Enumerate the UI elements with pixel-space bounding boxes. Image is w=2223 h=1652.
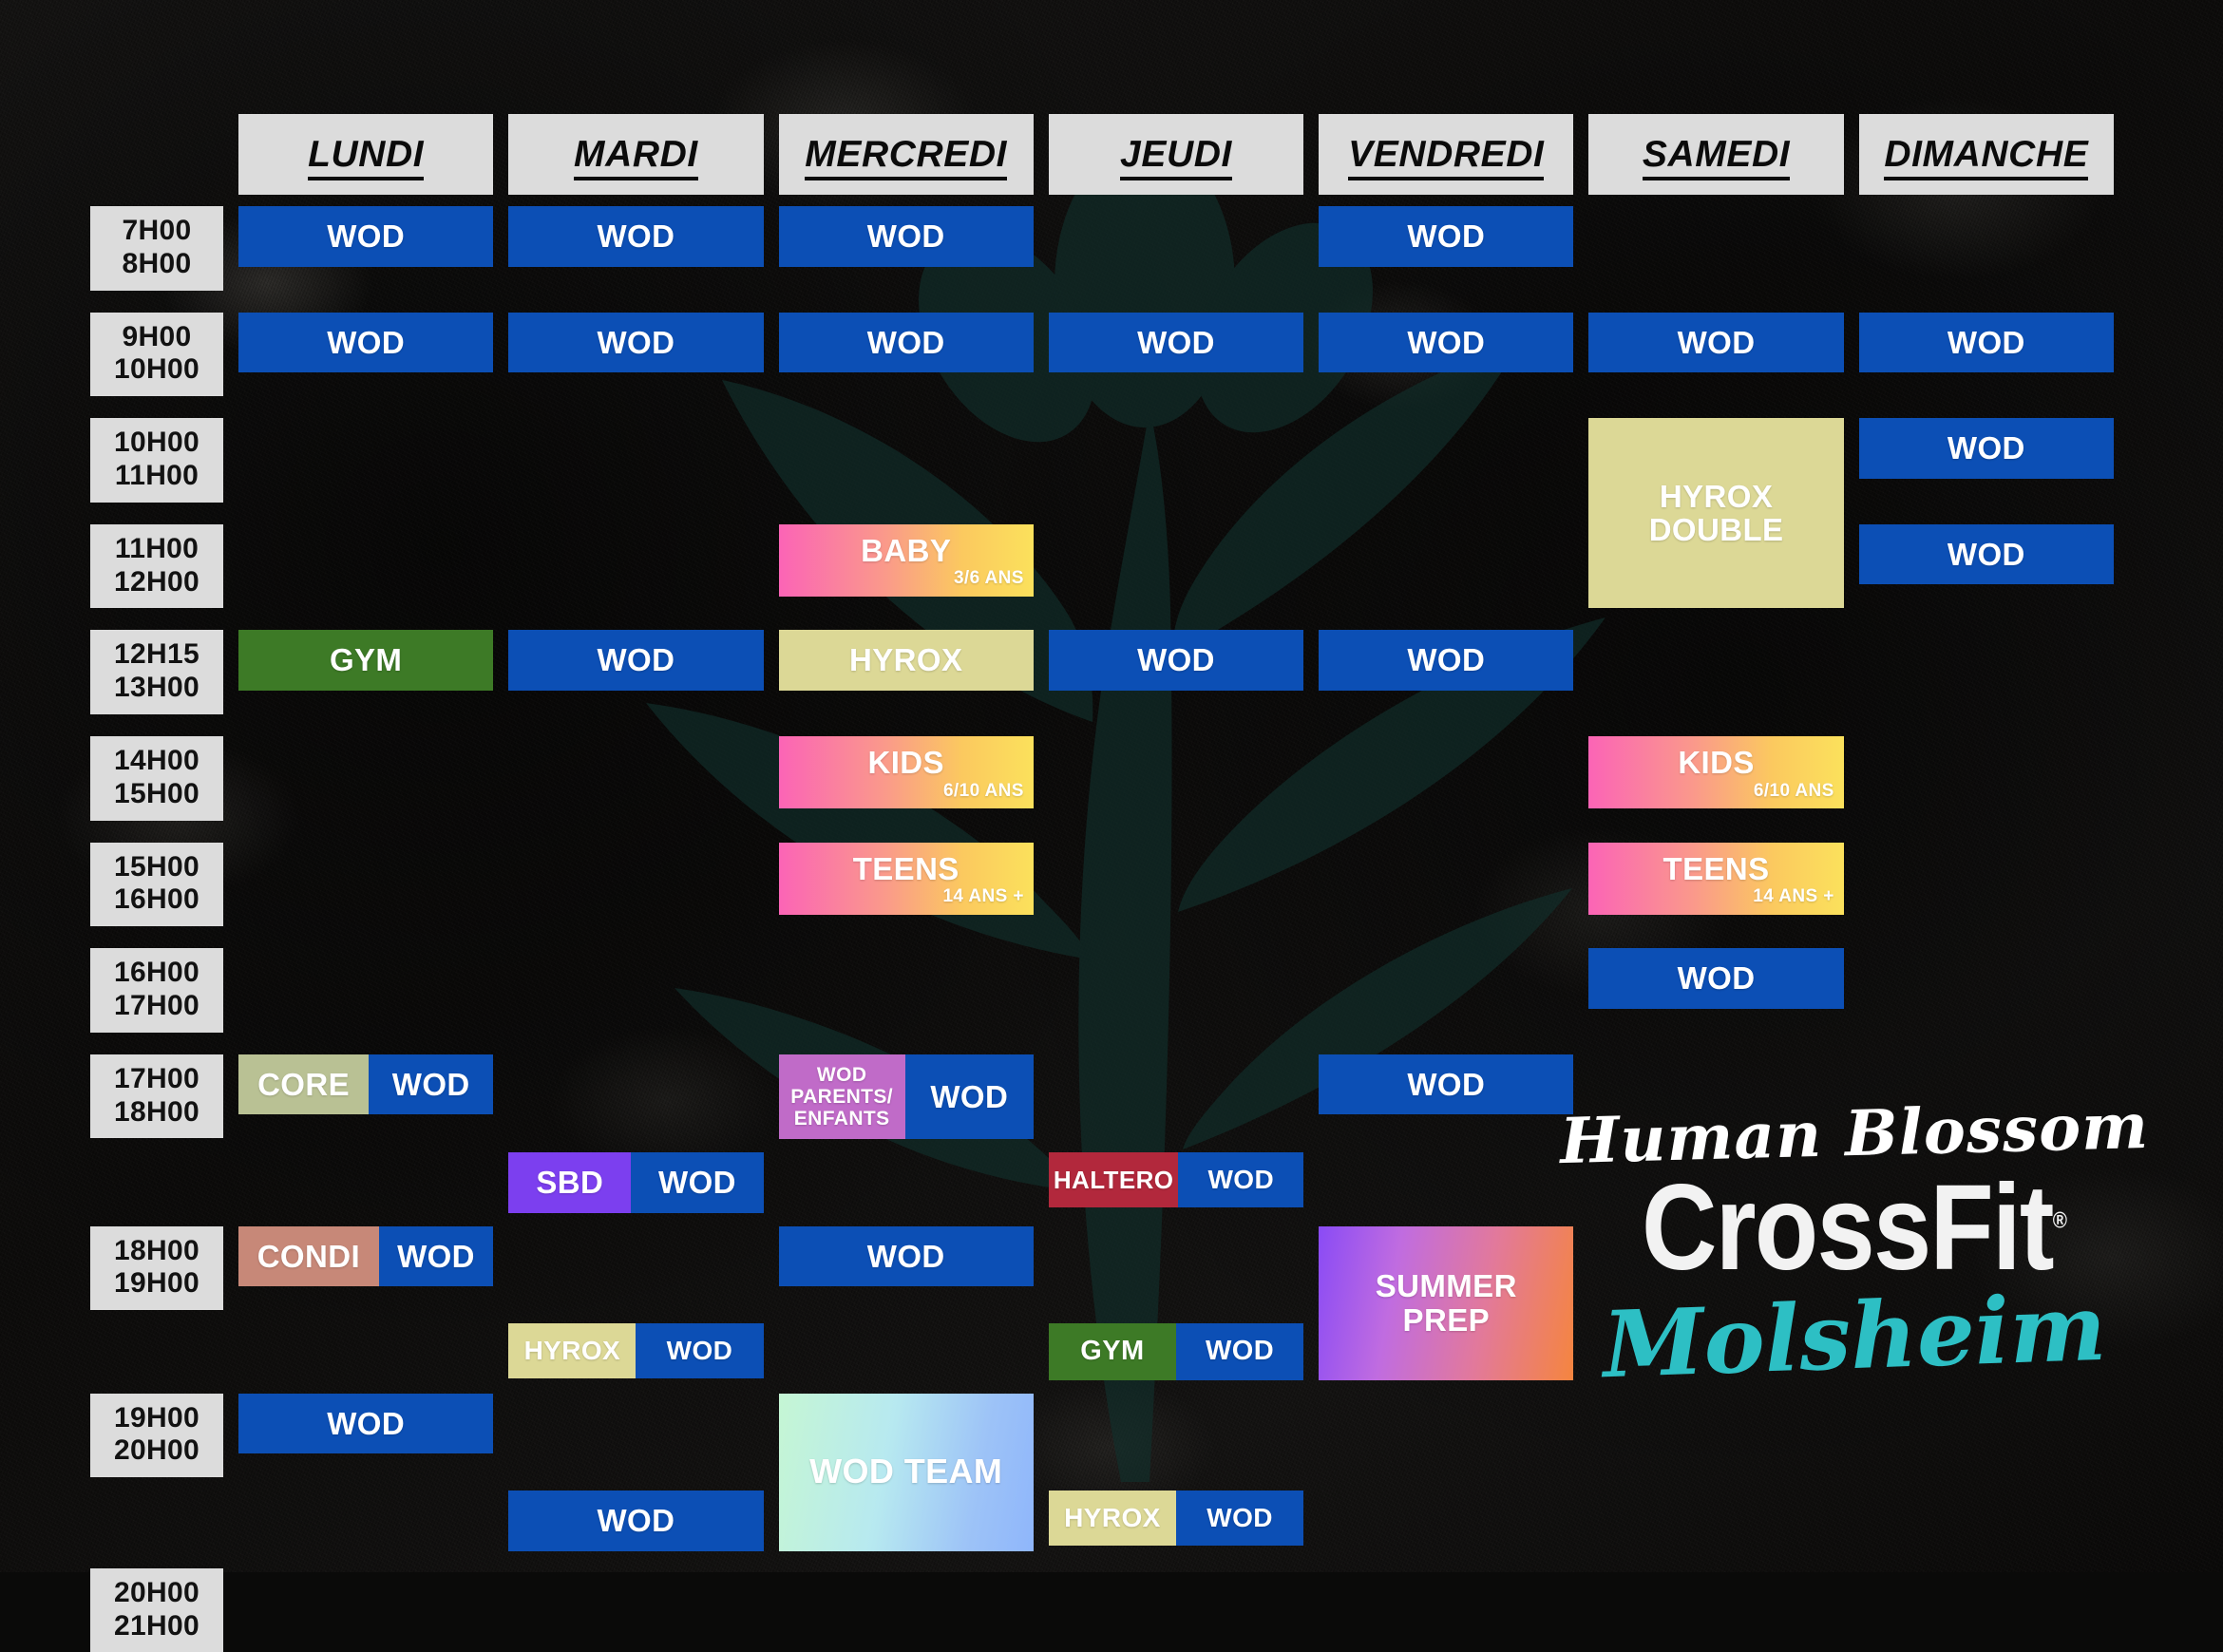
row-spacer xyxy=(90,821,2114,843)
class-block-wod[interactable]: WOD xyxy=(1859,524,2114,585)
time-end: 20H00 xyxy=(92,1434,221,1468)
slot-mercredi-9h00: WOD xyxy=(779,313,1034,397)
class-block-wod[interactable]: WOD xyxy=(631,1152,763,1213)
time-chip-12h15: 12H15 13H00 xyxy=(90,630,223,714)
class-pair: CORE WOD xyxy=(238,1054,493,1115)
class-block-wod-parents-enfants[interactable]: WOD PARENTS/ ENFANTS xyxy=(779,1054,905,1139)
time-cell-12h15: 12H15 13H00 xyxy=(90,630,223,714)
time-start: 20H00 xyxy=(92,1577,221,1610)
time-cell-7h00: 7H00 8H00 xyxy=(90,206,223,291)
slot-mercredi-18h00: WOD xyxy=(779,1226,1034,1311)
time-cell-9h00: 9H00 10H00 xyxy=(90,313,223,397)
day-header-lundi: LUNDI xyxy=(238,114,493,195)
class-block-wod[interactable]: WOD xyxy=(1319,206,1573,267)
row-spacer xyxy=(90,608,2114,630)
class-block-wod[interactable]: WOD xyxy=(238,206,493,267)
slot-mercredi-7h00: WOD xyxy=(779,206,1034,291)
class-pair: GYM WOD xyxy=(1049,1323,1303,1379)
class-block-kids[interactable]: KIDS 6/10 ANS xyxy=(779,736,1034,808)
day-header-vendredi: VENDREDI xyxy=(1319,114,1573,195)
row-spacer xyxy=(90,926,2114,948)
logo-crossfit-word: CrossFit xyxy=(1642,1160,2053,1296)
time-chip-10h00: 10H00 11H00 xyxy=(90,418,223,503)
time-start: 9H00 xyxy=(92,321,221,354)
time-cell-10h00: 10H00 11H00 xyxy=(90,418,223,503)
time-cell-20h00: 20H00 21H00 xyxy=(90,1568,223,1652)
slot-mercredi-17h00: WOD PARENTS/ ENFANTS WOD xyxy=(779,1054,1034,1139)
slot-vendredi-7h00: WOD xyxy=(1319,206,1573,291)
parents-line3: ENFANTS xyxy=(794,1108,890,1130)
time-end: 18H00 xyxy=(92,1096,221,1130)
slot-mardi-17h30: SBD WOD xyxy=(508,1152,763,1213)
time-cell-17h00: 17H00 18H00 xyxy=(90,1054,223,1139)
slot-lundi-19h00: WOD xyxy=(238,1394,493,1478)
class-block-wod[interactable]: WOD xyxy=(508,1491,763,1551)
slot-mercredi-12h15: HYROX xyxy=(779,630,1034,714)
logo-crossfit: CrossFit® xyxy=(1601,1170,2107,1287)
class-block-wod[interactable]: WOD xyxy=(508,206,763,267)
time-cell-19h00: 19H00 20H00 xyxy=(90,1394,223,1478)
class-pair: WOD PARENTS/ ENFANTS WOD xyxy=(779,1054,1034,1139)
time-chip-16h00: 16H00 17H00 xyxy=(90,948,223,1033)
row-spacer xyxy=(90,291,2114,313)
class-block-core[interactable]: CORE xyxy=(238,1054,369,1115)
time-start: 15H00 xyxy=(92,851,221,884)
baby-label: BABY xyxy=(861,534,951,568)
class-block-wod[interactable]: WOD xyxy=(1588,948,1843,1009)
slot-mardi-9h00: WOD xyxy=(508,313,763,397)
class-block-wod[interactable]: WOD xyxy=(636,1323,763,1378)
class-block-hyrox[interactable]: HYROX xyxy=(779,630,1034,691)
class-block-condi[interactable]: CONDI xyxy=(238,1226,379,1287)
time-end: 13H00 xyxy=(92,672,221,705)
slot-mercredi-15h00: TEENS 14 ANS + xyxy=(779,843,1034,927)
class-block-wod[interactable]: WOD xyxy=(1178,1152,1303,1207)
day-header-mercredi: MERCREDI xyxy=(779,114,1034,195)
slot-mardi-18h30: HYROX WOD xyxy=(508,1323,763,1379)
time-end: 8H00 xyxy=(92,248,221,281)
logo-molsheim: Molsheim xyxy=(1559,1281,2151,1393)
slot-mardi-7h00: WOD xyxy=(508,206,763,291)
day-header-samedi: SAMEDI xyxy=(1588,114,1843,195)
time-start: 17H00 xyxy=(92,1063,221,1096)
parents-line1: WOD xyxy=(817,1064,867,1086)
time-start: 16H00 xyxy=(92,957,221,990)
time-end: 19H00 xyxy=(92,1267,221,1301)
class-pair: HALTERO WOD xyxy=(1049,1152,1303,1207)
class-block-kids[interactable]: KIDS 6/10 ANS xyxy=(1588,736,1843,808)
slot-samedi-16h00: WOD xyxy=(1588,948,1843,1033)
slot-samedi-15h00: TEENS 14 ANS + xyxy=(1588,843,1843,927)
time-chip-9h00: 9H00 10H00 xyxy=(90,313,223,397)
time-end: 21H00 xyxy=(92,1610,221,1643)
class-block-wod[interactable]: WOD xyxy=(1859,313,2114,373)
class-block-wod[interactable]: WOD xyxy=(508,313,763,373)
class-block-wod[interactable]: WOD xyxy=(508,630,763,691)
time-cell-14h00: 14H00 15H00 xyxy=(90,736,223,821)
time-start: 18H00 xyxy=(92,1235,221,1268)
teens-label: TEENS xyxy=(853,852,959,886)
day-header-dimanche-label: DIMANCHE xyxy=(1884,134,2088,180)
parents-line2: PARENTS/ xyxy=(790,1086,893,1108)
time-start: 14H00 xyxy=(92,745,221,778)
slot-dimanche-10h00: WOD xyxy=(1859,418,2114,503)
class-block-teens[interactable]: TEENS 14 ANS + xyxy=(1588,843,1843,915)
row-spacer xyxy=(90,1033,2114,1054)
time-chip-20h00: 20H00 21H00 xyxy=(90,1568,223,1652)
class-block-wod[interactable]: WOD xyxy=(779,1226,1034,1287)
class-block-wod[interactable]: WOD xyxy=(238,313,493,373)
day-header-mardi: MARDI xyxy=(508,114,763,195)
teens-age-label: 14 ANS + xyxy=(942,887,1023,907)
class-pair: SBD WOD xyxy=(508,1152,763,1213)
class-block-wod[interactable]: WOD xyxy=(1176,1323,1303,1379)
slot-mardi-12h15: WOD xyxy=(508,630,763,714)
class-block-sbd[interactable]: SBD xyxy=(508,1152,631,1213)
class-block-wod[interactable]: WOD xyxy=(1319,1054,1573,1115)
summer-line2: PREP xyxy=(1403,1303,1490,1338)
time-end: 17H00 xyxy=(92,990,221,1023)
slot-jeudi-12h15: WOD xyxy=(1049,630,1303,714)
slot-lundi-9h00: WOD xyxy=(238,313,493,397)
slot-vendredi-18h00: SUMMER PREP xyxy=(1319,1226,1573,1380)
day-header-mardi-label: MARDI xyxy=(574,134,698,180)
time-start: 7H00 xyxy=(92,215,221,248)
time-chip-7h00: 7H00 8H00 xyxy=(90,206,223,291)
slot-jeudi-19h30: HYROX WOD xyxy=(1049,1491,1303,1551)
class-block-hyrox[interactable]: HYROX xyxy=(508,1323,636,1378)
class-block-hyrox-double[interactable]: HYROX DOUBLE xyxy=(1588,418,1843,608)
slot-jeudi-17h30: HALTERO WOD xyxy=(1049,1152,1303,1213)
day-header-mercredi-label: MERCREDI xyxy=(805,134,1007,180)
class-block-wod[interactable]: WOD xyxy=(779,313,1034,373)
slot-jeudi-9h00: WOD xyxy=(1049,313,1303,397)
time-chip-14h00: 14H00 15H00 xyxy=(90,736,223,821)
time-end: 12H00 xyxy=(92,566,221,599)
logo-registered-mark: ® xyxy=(2053,1207,2067,1233)
class-block-wod[interactable]: WOD xyxy=(779,206,1034,267)
time-start: 10H00 xyxy=(92,427,221,460)
time-cell-11h00: 11H00 12H00 xyxy=(90,524,223,609)
summer-line1: SUMMER xyxy=(1376,1269,1517,1303)
time-end: 10H00 xyxy=(92,353,221,387)
day-header-jeudi: JEUDI xyxy=(1049,114,1303,195)
hyrox-double-line1: HYROX xyxy=(1660,480,1773,514)
time-start: 19H00 xyxy=(92,1402,221,1435)
slot-lundi-18h00: CONDI WOD xyxy=(238,1226,493,1311)
class-block-wod-team[interactable]: WOD TEAM xyxy=(779,1394,1034,1551)
class-block-wod[interactable]: WOD xyxy=(238,1394,493,1454)
day-header-jeudi-label: JEUDI xyxy=(1120,134,1232,180)
time-chip-11h00: 11H00 12H00 xyxy=(90,524,223,609)
time-end: 16H00 xyxy=(92,883,221,917)
slot-mercredi-19h00: WOD TEAM xyxy=(779,1394,1034,1551)
brand-logo: Human Blossom CrossFit® Molsheim xyxy=(1560,1102,2149,1382)
slot-lundi-12h15: GYM xyxy=(238,630,493,714)
slot-vendredi-17h00: WOD xyxy=(1319,1054,1573,1139)
time-start: 12H15 xyxy=(92,638,221,672)
class-block-wod[interactable]: WOD xyxy=(1588,313,1843,373)
day-header-lundi-label: LUNDI xyxy=(308,134,424,180)
class-block-wod[interactable]: WOD xyxy=(1859,418,2114,479)
kids-label: KIDS xyxy=(1678,746,1754,780)
kids-age-label: 6/10 ANS xyxy=(943,782,1024,802)
time-start: 11H00 xyxy=(92,533,221,566)
class-block-gym[interactable]: GYM xyxy=(1049,1323,1176,1379)
slot-mercredi-14h00: KIDS 6/10 ANS xyxy=(779,736,1034,821)
slot-mercredi-11h00: BABY 3/6 ANS xyxy=(779,524,1034,609)
kids-age-label: 6/10 ANS xyxy=(1754,782,1834,802)
class-block-hyrox[interactable]: HYROX xyxy=(1049,1491,1176,1546)
class-block-wod[interactable]: WOD xyxy=(1319,630,1573,691)
teens-label: TEENS xyxy=(1663,852,1770,886)
slot-vendredi-12h15: WOD xyxy=(1319,630,1573,714)
class-block-wod[interactable]: WOD xyxy=(1319,313,1573,373)
class-block-gym[interactable]: GYM xyxy=(238,630,493,691)
class-block-baby[interactable]: BABY 3/6 ANS xyxy=(779,524,1034,597)
baby-age-label: 3/6 ANS xyxy=(954,569,1024,589)
slot-lundi-7h00: WOD xyxy=(238,206,493,291)
time-cell-18h00: 18H00 19H00 xyxy=(90,1226,223,1311)
slot-lundi-17h00: CORE WOD xyxy=(238,1054,493,1139)
schedule-grid: LUNDI MARDI MERCREDI JEUDI VENDREDI SAME… xyxy=(90,114,2114,1652)
class-pair: HYROX WOD xyxy=(1049,1491,1303,1546)
class-pair: CONDI WOD xyxy=(238,1226,493,1287)
time-chip-15h00: 15H00 16H00 xyxy=(90,843,223,927)
row-spacer xyxy=(90,1551,2114,1568)
class-block-wod[interactable]: WOD xyxy=(1049,313,1303,373)
class-block-wod[interactable]: WOD xyxy=(1049,630,1303,691)
day-header-samedi-label: SAMEDI xyxy=(1643,134,1790,180)
slot-jeudi-18h30: GYM WOD xyxy=(1049,1323,1303,1379)
teens-age-label: 14 ANS + xyxy=(1753,887,1833,907)
time-chip-19h00: 19H00 20H00 xyxy=(90,1394,223,1478)
row-spacer xyxy=(90,396,2114,418)
class-block-teens[interactable]: TEENS 14 ANS + xyxy=(779,843,1034,915)
kids-label: KIDS xyxy=(867,746,943,780)
slot-samedi-10h00: HYROX DOUBLE xyxy=(1588,418,1843,608)
class-block-wod[interactable]: WOD xyxy=(369,1054,493,1115)
slot-samedi-9h00: WOD xyxy=(1588,313,1843,397)
day-header-vendredi-label: VENDREDI xyxy=(1348,134,1544,180)
slot-dimanche-11h00: WOD xyxy=(1859,524,2114,609)
class-pair: HYROX WOD xyxy=(508,1323,763,1378)
class-block-wod[interactable]: WOD xyxy=(379,1226,494,1287)
time-chip-18h00: 18H00 19H00 xyxy=(90,1226,223,1311)
time-cell-15h00: 15H00 16H00 xyxy=(90,843,223,927)
class-block-wod[interactable]: WOD xyxy=(905,1054,1034,1139)
row-spacer xyxy=(90,714,2114,736)
hyrox-double-line2: DOUBLE xyxy=(1649,513,1784,547)
row-spacer xyxy=(90,1477,2114,1491)
class-block-haltero[interactable]: HALTERO xyxy=(1049,1152,1179,1207)
time-end: 15H00 xyxy=(92,778,221,811)
class-block-wod[interactable]: WOD xyxy=(1176,1491,1303,1546)
time-chip-17h00: 17H00 18H00 xyxy=(90,1054,223,1139)
slot-samedi-14h00: KIDS 6/10 ANS xyxy=(1588,736,1843,821)
slot-mardi-19h30: WOD xyxy=(508,1491,763,1551)
day-header-dimanche: DIMANCHE xyxy=(1859,114,2114,195)
class-block-summer-prep[interactable]: SUMMER PREP xyxy=(1319,1226,1573,1380)
time-end: 11H00 xyxy=(92,460,221,493)
slot-vendredi-9h00: WOD xyxy=(1319,313,1573,397)
time-cell-16h00: 16H00 17H00 xyxy=(90,948,223,1033)
slot-dimanche-9h00: WOD xyxy=(1859,313,2114,397)
